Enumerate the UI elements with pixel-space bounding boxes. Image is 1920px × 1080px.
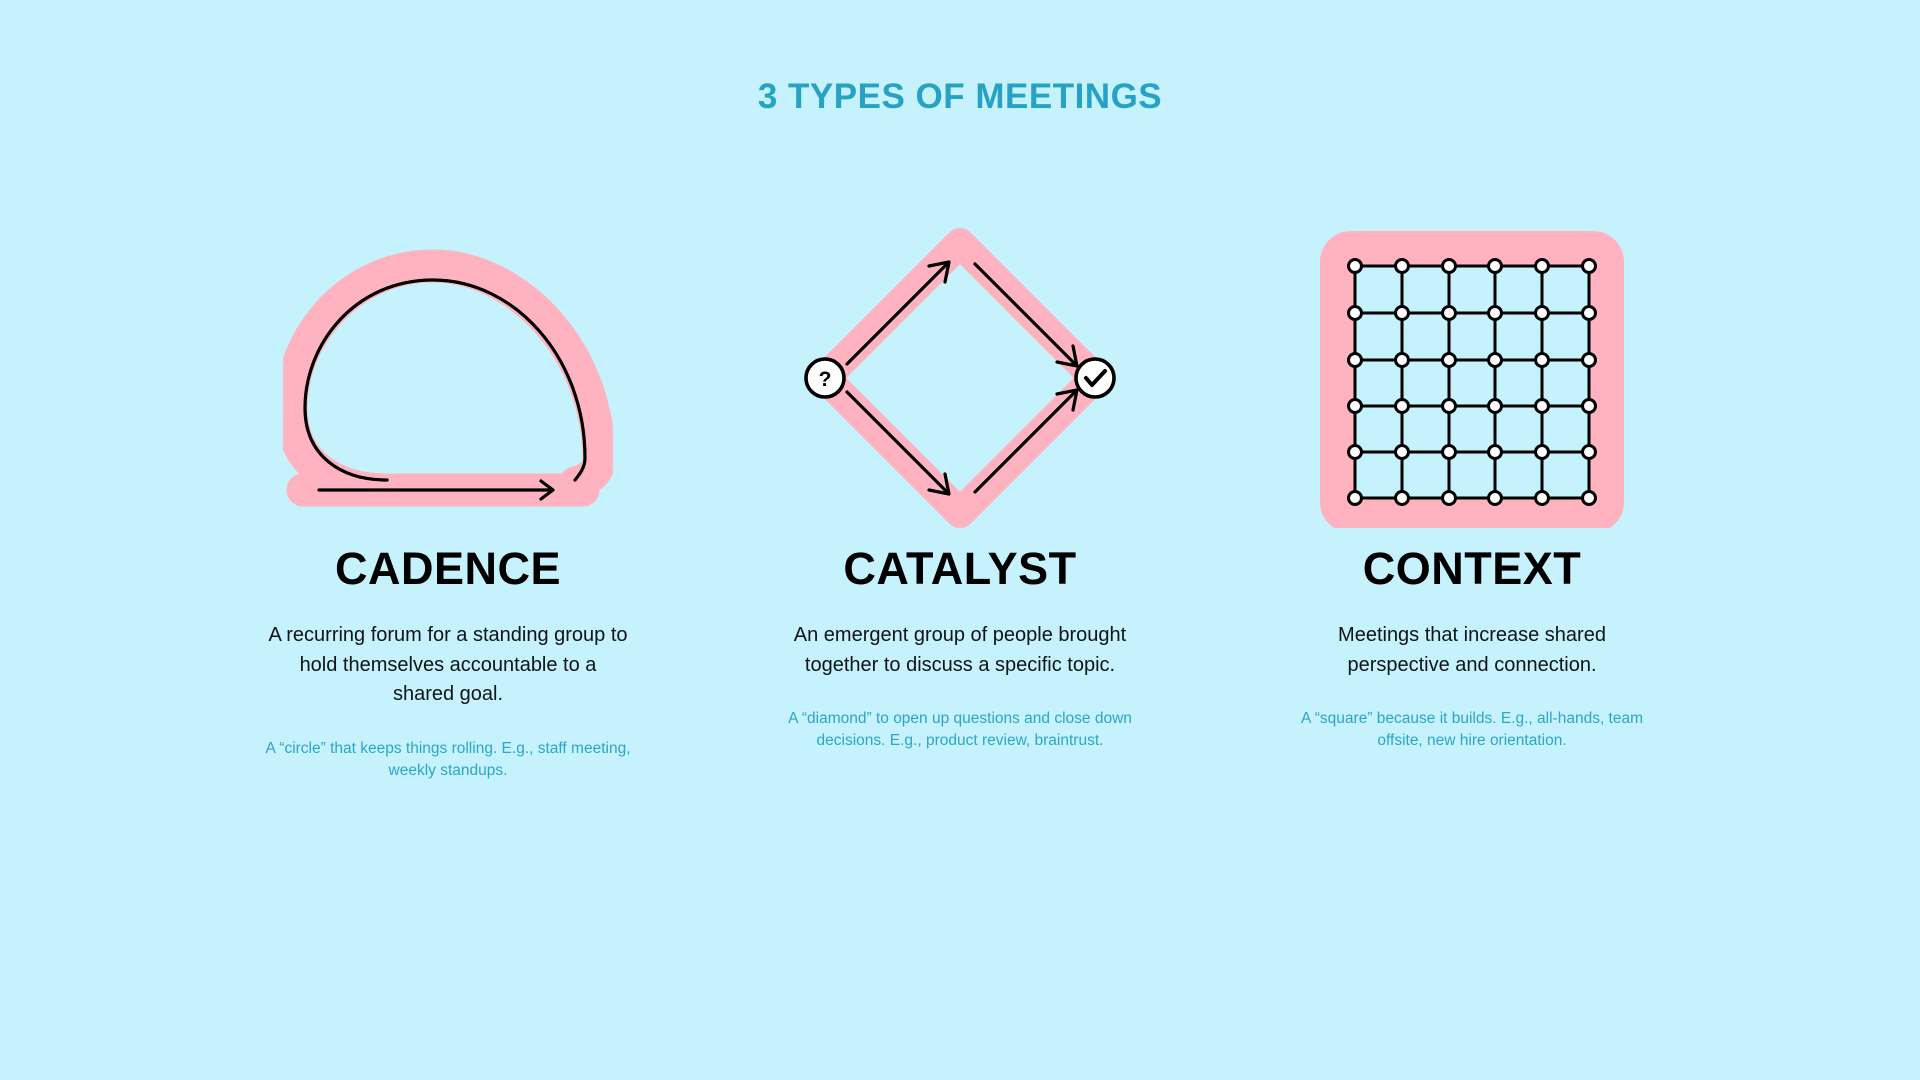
card-heading: CADENCE bbox=[335, 546, 561, 591]
card-body: An emergent group of people brought toge… bbox=[780, 621, 1140, 680]
diamond-arrows bbox=[847, 262, 1077, 494]
loop-circle-arrow-icon bbox=[283, 228, 613, 528]
question-mark-icon: ? bbox=[819, 368, 832, 391]
card-heading: CONTEXT bbox=[1363, 546, 1582, 591]
context-icon-wrap bbox=[1307, 228, 1637, 528]
diamond-pink-outline bbox=[825, 243, 1095, 513]
diamond-cycle-icon: ? bbox=[795, 228, 1125, 528]
infographic-page: 3 TYPES OF MEETINGS bbox=[0, 0, 1920, 1080]
diamond-end-node bbox=[1076, 359, 1114, 397]
card-body: A recurring forum for a standing group t… bbox=[268, 621, 628, 710]
diamond-start-node: ? bbox=[806, 359, 844, 397]
card-caption: A “circle” that keeps things rolling. E.… bbox=[258, 738, 638, 782]
cadence-pink-shape bbox=[291, 266, 599, 490]
card-cadence: CADENCE A recurring forum for a standing… bbox=[192, 228, 704, 782]
card-heading: CATALYST bbox=[843, 546, 1076, 591]
card-caption: A “diamond” to open up questions and clo… bbox=[770, 708, 1150, 752]
catalyst-icon-wrap: ? bbox=[795, 228, 1125, 528]
card-context: CONTEXT Meetings that increase shared pe… bbox=[1216, 228, 1728, 752]
page-title: 3 TYPES OF MEETINGS bbox=[0, 77, 1920, 117]
card-catalyst: ? CATALYST An emergent group of people b… bbox=[704, 228, 1216, 752]
cadence-icon-wrap bbox=[283, 228, 613, 528]
cards-row: CADENCE A recurring forum for a standing… bbox=[0, 228, 1920, 782]
card-body: Meetings that increase shared perspectiv… bbox=[1292, 621, 1652, 680]
card-caption: A “square” because it builds. E.g., all-… bbox=[1282, 708, 1662, 752]
grid-square-icon bbox=[1307, 228, 1637, 528]
